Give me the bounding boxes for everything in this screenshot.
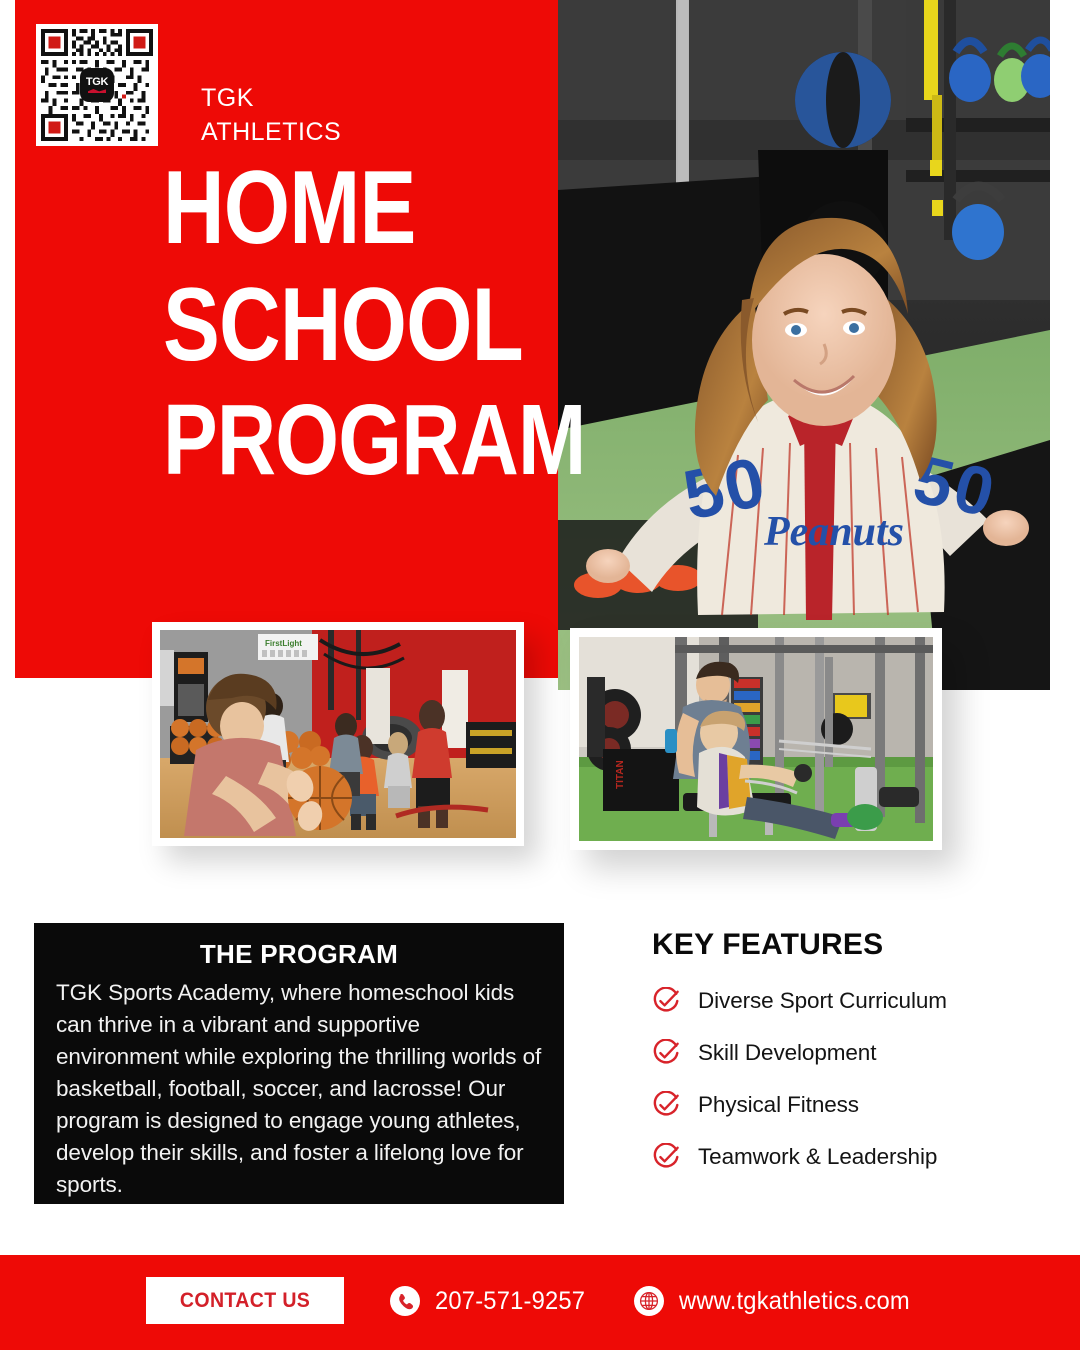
headline-line-1: HOME	[163, 158, 491, 259]
hero-photo: 5 0 5 0 Peanuts	[558, 0, 1050, 690]
headline: HOME SCHOOL PROGRAM	[163, 158, 563, 489]
key-features-section: KEY FEATURES Diverse Sport Curriculum Sk…	[652, 928, 1052, 1171]
website-contact[interactable]: www.tgkathletics.com	[632, 1284, 922, 1318]
contact-us-label: CONTACT US	[180, 1289, 310, 1313]
check-circle-icon	[652, 1091, 680, 1119]
photo-basketball: FirstLight	[152, 622, 524, 846]
brand-name: TGK ATHLETICS	[201, 82, 341, 150]
phone-contact[interactable]: 207-571-9257	[388, 1284, 593, 1318]
headline-line-2: SCHOOL	[163, 275, 491, 376]
photo-strength-training: TITAN	[570, 628, 942, 850]
check-circle-icon	[652, 1143, 680, 1171]
qr-code[interactable]: TGK	[36, 24, 158, 146]
qr-logo-badge: TGK	[80, 68, 114, 102]
feature-label: Physical Fitness	[698, 1092, 859, 1118]
features-title: KEY FEATURES	[652, 928, 1052, 962]
feature-item: Skill Development	[652, 1039, 1052, 1067]
qr-logo-text: TGK	[86, 77, 108, 88]
program-title: THE PROGRAM	[56, 939, 542, 970]
feature-item: Teamwork & Leadership	[652, 1143, 1052, 1171]
brand-line-1: TGK	[201, 82, 341, 116]
program-box: THE PROGRAM TGK Sports Academy, where ho…	[34, 923, 564, 1204]
feature-item: Diverse Sport Curriculum	[652, 987, 1052, 1015]
check-circle-icon	[652, 1039, 680, 1067]
qr-logo-swoosh	[88, 89, 106, 93]
website-url: www.tgkathletics.com	[679, 1287, 910, 1316]
feature-item: Physical Fitness	[652, 1091, 1052, 1119]
header-red-panel: TGK TGK ATHLETICS HOME SCHOOL PROGRAM	[15, 0, 558, 678]
check-circle-icon	[652, 987, 680, 1015]
contact-us-button[interactable]: CONTACT US	[146, 1277, 344, 1324]
phone-icon	[388, 1284, 422, 1318]
globe-icon	[632, 1284, 666, 1318]
feature-label: Teamwork & Leadership	[698, 1144, 937, 1170]
brand-line-2: ATHLETICS	[201, 116, 341, 150]
footer-bar: CONTACT US 207-571-9257	[0, 1255, 1080, 1350]
poster-root: 5 0 5 0 Peanuts	[0, 0, 1080, 1350]
svg-text:Peanuts: Peanuts	[763, 509, 904, 555]
svg-text:TITAN: TITAN	[615, 760, 626, 789]
feature-label: Diverse Sport Curriculum	[698, 988, 947, 1014]
svg-text:FirstLight: FirstLight	[265, 639, 302, 648]
phone-number: 207-571-9257	[435, 1287, 585, 1316]
program-description: TGK Sports Academy, where homeschool kid…	[56, 977, 542, 1201]
feature-label: Skill Development	[698, 1040, 876, 1066]
headline-line-3: PROGRAM	[163, 392, 491, 489]
